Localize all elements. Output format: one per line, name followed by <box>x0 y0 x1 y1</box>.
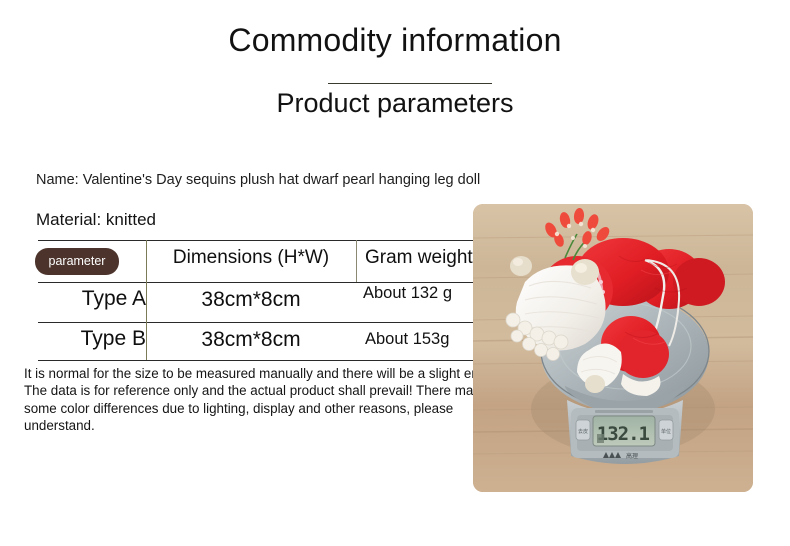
product-info-page: Commodity information Product parameters… <box>0 0 790 546</box>
title-divider <box>328 83 492 84</box>
table-border-bottom <box>38 360 500 361</box>
product-name-line: Name: Valentine's Day sequins plush hat … <box>36 172 480 188</box>
svg-text:132.1: 132.1 <box>597 423 650 445</box>
parameters-table: parameter Dimensions (H*W) Gram weight T… <box>38 240 500 361</box>
table-border-header <box>38 282 500 283</box>
table-border-top <box>38 240 500 241</box>
table-cell-gram-weight: About 132 g <box>363 284 463 303</box>
table-border-row1 <box>38 322 500 323</box>
table-divider-col2 <box>356 240 357 282</box>
parameter-badge: parameter <box>35 248 119 275</box>
product-photo: 132.1 去皮 单位 高理 <box>473 204 753 492</box>
table-cell-dimensions: 38cm*8cm <box>146 288 356 312</box>
page-subtitle: Product parameters <box>0 88 790 119</box>
svg-text:高理: 高理 <box>626 452 638 460</box>
svg-text:去皮: 去皮 <box>578 428 588 435</box>
product-material-line: Material: knitted <box>36 210 156 230</box>
table-cell-dimensions: 38cm*8cm <box>146 328 356 352</box>
product-photo-illustration: 132.1 去皮 单位 高理 <box>473 204 753 492</box>
table-cell-gram-weight: About 153g <box>365 330 449 349</box>
table-row: Type A <box>44 287 146 311</box>
table-row: Type B <box>44 327 146 351</box>
svg-text:单位: 单位 <box>661 428 671 435</box>
table-header-gram-weight: Gram weight <box>365 247 473 269</box>
page-title: Commodity information <box>0 22 790 59</box>
table-header-dimensions: Dimensions (H*W) <box>146 247 356 269</box>
